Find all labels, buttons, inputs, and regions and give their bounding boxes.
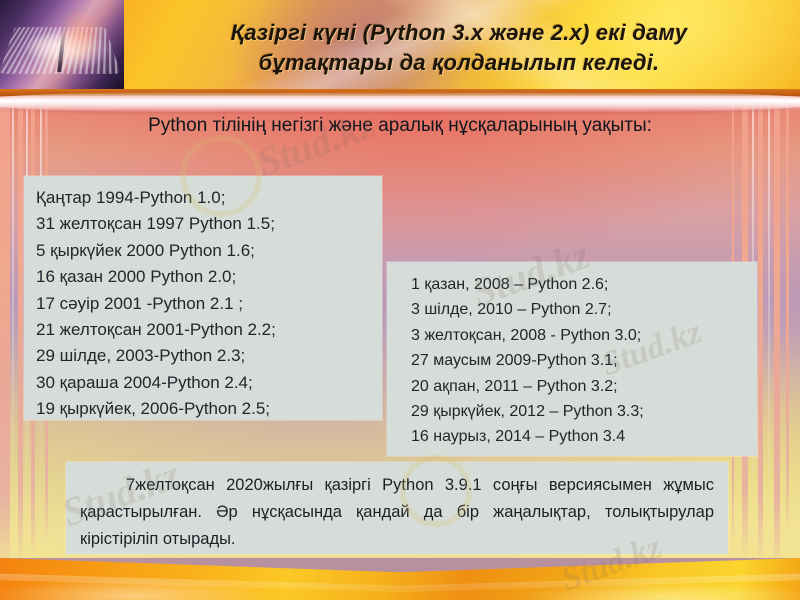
slide-title: Қазіргі күні (Python 3.х және 2.х) екі д… [128,18,790,78]
version-list-right: 1 қазан, 2008 – Python 2.6; 3 шілде, 201… [411,272,757,450]
note-text: 7желтоқсан 2020жылғы қазіргі Python 3.9.… [80,472,714,553]
list-item: 1 қазан, 2008 – Python 2.6; [411,272,757,297]
list-item: 5 қыркүйек 2000 Python 1.6; [36,238,382,264]
header-swoosh-secondary [0,100,800,112]
list-item: 27 маусым 2009-Python 3.1; [411,348,757,373]
slide-title-line2: бұтақтары да қолданылып келеді. [128,48,790,78]
note-box: 7желтоқсан 2020жылғы қазіргі Python 3.9.… [66,462,728,554]
list-item: Қаңтар 1994-Python 1.0; [36,185,382,211]
version-list-box-right: 1 қазан, 2008 – Python 2.6; 3 шілде, 201… [387,262,757,456]
footer-shine [0,558,800,600]
list-item: 17 сәуір 2001 -Python 2.1 ; [36,291,382,317]
list-item: 29 қыркүйек, 2012 – Python 3.3; [411,399,757,424]
list-item: 31 желтоқсан 1997 Python 1.5; [36,211,382,237]
list-item: 16 қазан 2000 Python 2.0; [36,264,382,290]
version-list-left: Қаңтар 1994-Python 1.0; 31 желтоқсан 199… [36,185,382,423]
list-item: 30 қараша 2004-Python 2.4; [36,370,382,396]
footer-band [0,558,800,600]
list-item: 29 шілде, 2003-Python 2.3; [36,343,382,369]
list-item: 19 қыркүйек, 2006-Python 2.5; [36,396,382,422]
version-list-box-left: Қаңтар 1994-Python 1.0; 31 желтоқсан 199… [24,176,382,420]
slide: Қазіргі күні (Python 3.х және 2.х) екі д… [0,0,800,600]
book-glow [62,4,122,84]
list-item: 21 желтоқсан 2001-Python 2.2; [36,317,382,343]
list-item: 3 желтоқсан, 2008 - Python 3.0; [411,323,757,348]
slide-title-line1: Қазіргі күні (Python 3.х және 2.х) екі д… [231,20,688,45]
list-item: 16 наурыз, 2014 – Python 3.4 [411,424,757,449]
list-item: 20 ақпан, 2011 – Python 3.2; [411,374,757,399]
open-book-image [0,0,124,89]
subtitle: Python тілінің негізгі және аралық нұсқа… [70,112,730,140]
list-item: 3 шілде, 2010 – Python 2.7; [411,297,757,322]
